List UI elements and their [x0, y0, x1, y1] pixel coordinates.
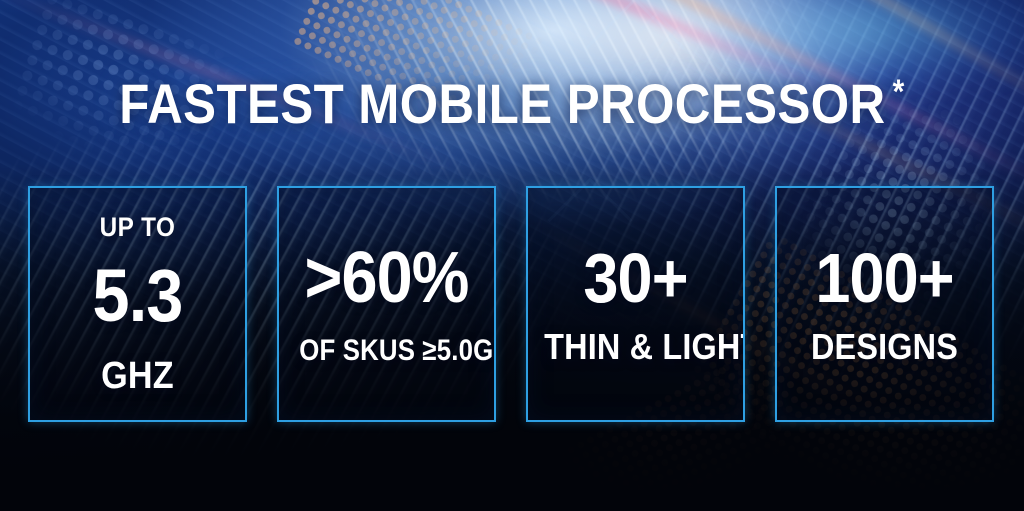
stat-card-content: UP TO 5.3 GHZ: [30, 214, 245, 395]
stat-card-sku-percentage[interactable]: >60% OF SKUS ≥5.0GHZ: [277, 186, 496, 422]
stat-value: 30+: [544, 243, 727, 313]
stat-card-clock-speed[interactable]: UP TO 5.3 GHZ: [28, 186, 247, 422]
stat-sublabel: GHZ: [46, 357, 229, 395]
stat-sublabel: THIN & LIGHT: [544, 329, 727, 365]
stat-value: >60%: [295, 242, 478, 314]
stat-card-content: 30+ THIN & LIGHT: [528, 243, 743, 365]
page-title-text: FASTEST MOBILE PROCESSOR: [119, 72, 885, 135]
stat-value: 5.3: [46, 259, 229, 333]
stat-card-designs[interactable]: 100+ DESIGNS: [775, 186, 994, 422]
stat-card-content: 100+ DESIGNS: [777, 243, 992, 365]
stat-value: 100+: [793, 243, 976, 313]
stat-card-thin-and-light[interactable]: 30+ THIN & LIGHT: [526, 186, 745, 422]
stat-card-content: >60% OF SKUS ≥5.0GHZ: [279, 242, 494, 366]
page-title: FASTEST MOBILE PROCESSOR*: [61, 76, 962, 132]
footnote-asterisk: *: [893, 73, 905, 111]
slide-canvas: FASTEST MOBILE PROCESSOR* UP TO 5.3 GHZ …: [0, 0, 1024, 511]
stat-overline: UP TO: [46, 214, 229, 241]
stat-sublabel: OF SKUS ≥5.0GHZ: [299, 336, 474, 366]
stat-sublabel: DESIGNS: [793, 329, 976, 365]
stat-card-row: UP TO 5.3 GHZ >60% OF SKUS ≥5.0GHZ 30+ T…: [28, 186, 994, 422]
